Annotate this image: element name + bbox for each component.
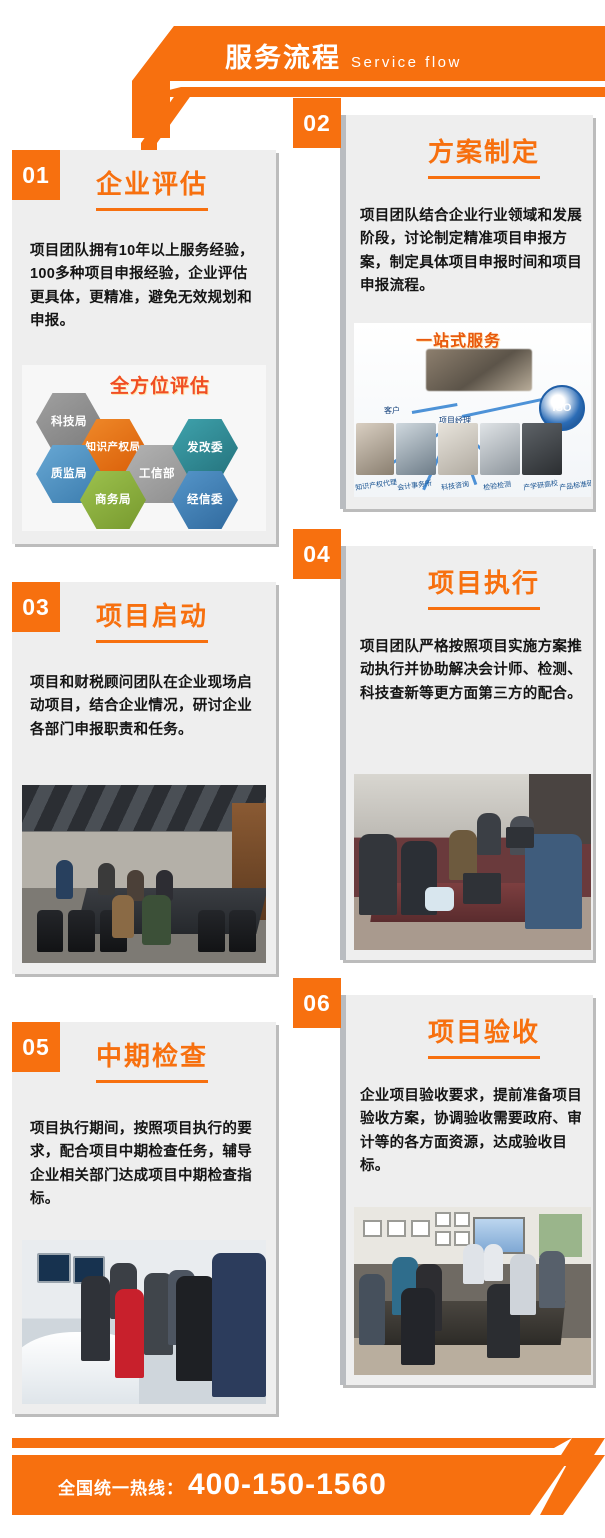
chair	[37, 910, 64, 953]
one-stop-hero-photo	[426, 349, 532, 391]
step-description: 项目团队结合企业行业领域和发展阶段，讨论制定精准项目申报方案，制定具体项目申报时…	[360, 205, 585, 299]
person	[81, 1276, 110, 1361]
step-title: 中期检查	[96, 1036, 208, 1083]
step-card-02: 02 方案制定 项目团队结合企业行业领域和发展阶段，讨论制定精准项目申报方案，制…	[340, 115, 593, 509]
certificate-frame	[363, 1220, 382, 1237]
hex-diagram-title: 全方位评估	[110, 371, 210, 398]
hotline-label: 全国统一热线：	[58, 1474, 184, 1499]
person	[477, 813, 501, 855]
certificate-frame	[411, 1220, 430, 1237]
hotline-number[interactable]: 400-150-1560	[188, 1468, 387, 1502]
chair	[68, 910, 95, 953]
step-number-badge: 05	[12, 1022, 60, 1072]
service-thumb	[396, 423, 436, 475]
person	[525, 834, 582, 929]
service-caption: 科技咨询	[441, 479, 470, 493]
person	[112, 895, 134, 938]
person	[56, 860, 73, 899]
step-title: 项目执行	[428, 563, 540, 610]
page-subtitle: Service flow	[351, 54, 462, 71]
service-thumb	[522, 423, 562, 475]
step-title: 项目启动	[96, 596, 208, 643]
person	[98, 863, 115, 895]
service-thumb	[438, 423, 478, 475]
person	[176, 1276, 215, 1381]
wall-monitor	[37, 1253, 71, 1283]
one-stop-title: 一站式服务	[416, 327, 501, 351]
step-number-badge: 06	[293, 978, 341, 1028]
step-number-badge: 03	[12, 582, 60, 632]
service-thumb	[480, 423, 520, 475]
service-caption: 检验检测	[483, 479, 512, 493]
certificate-frame	[435, 1212, 452, 1227]
step-number-badge: 04	[293, 529, 341, 579]
step-description: 项目和财税顾问团队在企业现场启动项目，结合企业情况，研讨企业各部门申报职责和任务…	[30, 672, 258, 742]
hex-diagram-media: 全方位评估 科技局 知识产权局 质监局 工信部 商务局 发改委 经信委	[22, 365, 266, 531]
page-title: 服务流程	[225, 36, 341, 75]
header-title-group: 服务流程 Service flow	[225, 36, 462, 75]
laptop	[506, 827, 534, 848]
step-card-01: 01 企业评估 项目团队拥有10年以上服务经验，100多种项目申报经验，企业评估…	[12, 150, 276, 544]
service-thumb	[356, 423, 394, 475]
step-card-03: 03 项目启动 项目和财税顾问团队在企业现场启动项目，结合企业情况，研讨企业各部…	[12, 582, 276, 974]
ceiling-pattern	[22, 785, 266, 831]
one-stop-client-label: 客户	[384, 405, 400, 416]
header-accent-stripe	[141, 87, 605, 97]
equipment	[425, 887, 453, 912]
person	[463, 1244, 484, 1284]
step-title: 项目验收	[428, 1012, 540, 1059]
service-caption: 产品标准研究	[559, 477, 591, 493]
person	[401, 1288, 434, 1365]
photo-meeting-room	[22, 785, 266, 963]
certificate-frame	[454, 1212, 471, 1227]
person-red-coat	[115, 1289, 144, 1378]
step-description: 项目团队拥有10年以上服务经验，100多种项目申报经验，企业评估更具体，更精准，…	[30, 240, 258, 334]
person	[359, 1274, 385, 1345]
service-caption: 产学研高校	[523, 478, 559, 493]
certificate-frame	[454, 1231, 471, 1246]
footer-accent-stripe	[12, 1438, 572, 1448]
step-card-06: 06 项目验收 企业项目验收要求，提前准备项目验收方案，协调验收需要政府、审计等…	[340, 995, 593, 1385]
certificate-frame	[387, 1220, 406, 1237]
service-caption: 知识产权代理	[355, 477, 398, 493]
step-description: 企业项目验收要求，提前准备项目验收方案，协调验收需要政府、审计等的各方面资源，达…	[360, 1085, 585, 1179]
step-number-badge: 01	[12, 150, 60, 200]
step-description: 项目团队严格按照项目实施方案推动执行并协助解决会计师、检测、科技查新等更方面第三…	[360, 636, 585, 706]
step-number-badge: 02	[293, 98, 341, 148]
photo-working-session	[354, 774, 591, 950]
chair	[198, 910, 225, 953]
laptop	[463, 873, 501, 905]
photo-site-visit	[22, 1240, 266, 1404]
person	[510, 1254, 536, 1314]
chair	[229, 910, 256, 953]
step-description: 项目执行期间，按照项目执行的要求，配合项目中期检查任务，辅导企业相关部门达成项目…	[30, 1118, 258, 1212]
person	[484, 1244, 503, 1281]
step-card-04: 04 项目执行 项目团队严格按照项目实施方案推动执行并协助解决会计师、检测、科技…	[340, 546, 593, 960]
person	[359, 834, 397, 915]
certificate-frame	[435, 1231, 452, 1246]
step-title: 方案制定	[428, 132, 540, 179]
hotline-group: 全国统一热线： 400-150-1560	[58, 1468, 387, 1502]
page-footer: 全国统一热线： 400-150-1560	[0, 1418, 605, 1538]
step-card-05: 05 中期检查 项目执行期间，按照项目执行的要求，配合项目中期检查任务，辅导企业…	[12, 1022, 276, 1414]
photo-acceptance-meeting	[354, 1207, 591, 1375]
service-caption: 会计事务所	[397, 478, 433, 493]
step-title: 企业评估	[96, 164, 208, 211]
person	[212, 1253, 266, 1397]
person	[539, 1251, 565, 1308]
person	[142, 895, 171, 945]
one-stop-diagram-media: 一站式服务 客户 项目经理 ISO 知识产权代理 会计事务所 科技咨询 检验检测…	[354, 323, 591, 497]
flow-arrow	[412, 403, 458, 414]
